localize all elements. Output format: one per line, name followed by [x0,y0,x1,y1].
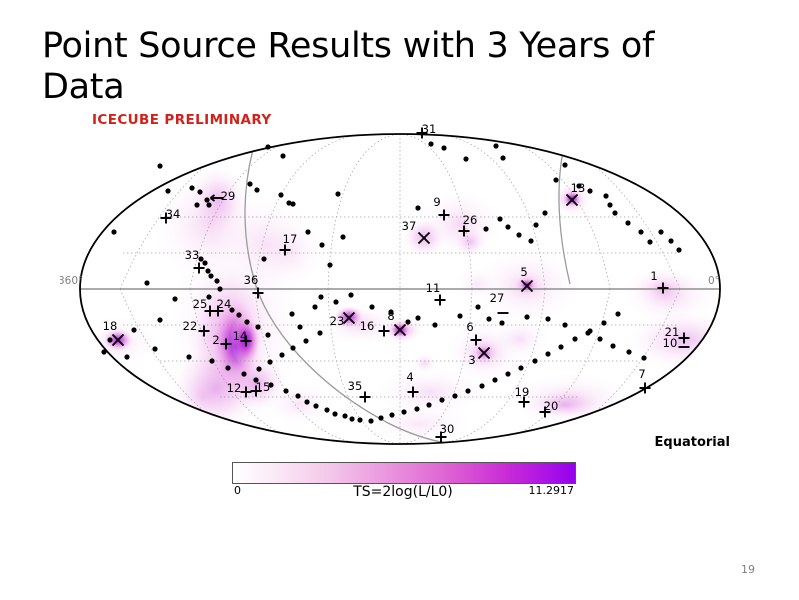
neutrino-event [516,232,521,237]
source-label: 5 [520,265,527,279]
source-label: 23 [330,314,345,328]
neutrino-event [524,314,529,319]
neutrino-event [255,324,260,329]
neutrino-event [244,319,249,324]
source-label: 16 [360,319,375,333]
neutrino-event [486,316,491,321]
neutrino-event [638,229,643,234]
neutrino-event [492,377,497,382]
neutrino-event [280,153,285,158]
neutrino-event [278,192,283,197]
neutrino-event [204,197,209,202]
neutrino-event [333,299,338,304]
neutrino-event [101,349,106,354]
neutrino-event [289,311,294,316]
neutrino-event [615,311,620,316]
source-label: 34 [166,207,181,221]
neutrino-event [493,143,498,148]
source-label: 13 [571,181,586,195]
page-title: Point Source Results with 3 Years of Dat… [42,26,732,107]
neutrino-event [597,336,602,341]
neutrino-event [607,202,612,207]
source-label: 8 [387,309,394,323]
source-label: 12 [227,381,242,395]
neutrino-event [465,388,470,393]
neutrino-event [265,332,270,337]
neutrino-event [254,187,259,192]
neutrino-event [225,365,230,370]
neutrino-event [603,193,608,198]
neutrino-event [236,312,241,317]
neutrino-event [532,358,537,363]
neutrino-event [414,406,419,411]
skymap: 1234567891011121314151617181920212223242… [60,124,740,454]
neutrino-event [500,155,505,160]
neutrino-event [206,202,211,207]
source-label: 33 [185,248,200,262]
source-label: 14 [233,329,248,343]
neutrino-event [297,324,302,329]
slide-root: Point Source Results with 3 Years of Dat… [0,0,799,600]
neutrino-event [587,188,592,193]
neutrino-event [197,189,202,194]
source-label: 25 [193,297,208,311]
neutrino-event [340,234,345,239]
projection-label: Equatorial [655,435,730,450]
source-label: 26 [463,213,478,227]
source-label: 37 [402,219,417,233]
neutrino-event [505,224,510,229]
neutrino-event [194,202,199,207]
neutrino-event [676,247,681,252]
source-label: 6 [466,320,473,334]
neutrino-event [528,238,533,243]
neutrino-event [401,409,406,414]
ra-left-label: 360° [60,275,83,287]
neutrino-event [290,345,295,350]
neutrino-event [505,371,510,376]
neutrino-event [405,319,410,324]
neutrino-event [186,354,191,359]
neutrino-event [572,336,577,341]
neutrino-event [658,229,663,234]
neutrino-event [214,278,219,283]
neutrino-event [303,338,308,343]
page-number: 19 [741,563,755,576]
neutrino-event [152,346,157,351]
neutrino-event [533,222,538,227]
neutrino-event [165,188,170,193]
source-label: 36 [244,273,259,287]
neutrino-event [279,352,284,357]
neutrino-event [426,402,431,407]
neutrino-event [111,229,116,234]
neutrino-event [562,322,567,327]
neutrino-event [144,280,149,285]
neutrino-event [318,294,323,299]
neutrino-event [283,388,288,393]
neutrino-event [479,383,484,388]
neutrino-event [157,317,162,322]
neutrino-event [327,262,332,267]
source-label: 2 [212,333,219,347]
neutrino-event [317,330,322,335]
neutrino-event [463,156,468,161]
source-label: 4 [406,370,413,384]
neutrino-event [324,407,329,412]
skymap-svg: 1234567891011121314151617181920212223242… [60,124,740,454]
neutrino-event [335,191,340,196]
neutrino-event [542,210,547,215]
source-label: 30 [440,422,455,436]
neutrino-event [612,210,617,215]
neutrino-event [439,397,444,402]
neutrino-event [295,393,300,398]
source-label: 24 [217,297,232,311]
source-label: 9 [433,195,440,209]
neutrino-event [304,399,309,404]
neutrino-event [545,316,550,321]
neutrino-event [319,242,324,247]
ra-right-label: 0° [708,275,720,287]
neutrino-event [124,354,129,359]
neutrino-event [626,349,631,354]
source-label: 3 [468,353,475,367]
neutrino-event [208,273,213,278]
neutrino-event [432,322,437,327]
neutrino-event [247,181,252,186]
neutrino-event [357,417,362,422]
neutrino-event [641,355,646,360]
source-label: 20 [544,399,559,413]
neutrino-event [348,292,353,297]
neutrino-event [625,220,630,225]
neutrino-event [647,239,652,244]
source-label: 1 [650,269,657,283]
neutrino-event [457,313,462,318]
neutrino-event [483,226,488,231]
source-label: 17 [283,232,298,246]
neutrino-event [428,141,433,146]
colorbar-title: TS=2log(L/L0) [232,484,574,500]
neutrino-event [332,411,337,416]
neutrino-event [601,320,606,325]
neutrino-event [209,358,214,363]
colorbar-max-label: 11.2917 [529,484,575,497]
neutrino-event [205,268,210,273]
neutrino-event [475,304,480,309]
neutrino-event [312,304,317,309]
neutrino-event [157,163,162,168]
neutrino-event [189,185,194,190]
neutrino-event [415,315,420,320]
neutrino-event [256,366,261,371]
neutrino-event [610,343,615,348]
colorbar: 0 TS=2log(L/L0) 11.2917 [232,462,574,506]
neutrino-event [131,327,136,332]
neutrino-event [265,144,270,149]
source-label: 21 [665,325,680,339]
neutrino-event [241,371,246,376]
neutrino-event [349,416,354,421]
source-label: 18 [103,319,118,333]
neutrino-event [107,337,112,342]
neutrino-event [369,304,374,309]
neutrino-event [668,238,673,243]
neutrino-event [290,201,295,206]
source-label: 35 [348,379,363,393]
neutrino-event [562,162,567,167]
neutrino-event [497,216,502,221]
neutrino-event [415,205,420,210]
neutrino-event [499,320,504,325]
neutrino-event [389,412,394,417]
source-label: 27 [490,291,505,305]
neutrino-event [217,286,222,291]
source-label: 29 [221,189,236,203]
neutrino-event [545,351,550,356]
neutrino-event [558,344,563,349]
source-label: 22 [183,319,198,333]
neutrino-event [518,365,523,370]
neutrino-event [553,177,558,182]
source-label: 15 [256,380,271,394]
neutrino-event [172,296,177,301]
source-label: 11 [426,281,441,295]
source-label: 7 [638,367,645,381]
neutrino-event [452,393,457,398]
neutrino-event [261,256,266,261]
neutrino-event [342,413,347,418]
neutrino-event [378,415,383,420]
neutrino-event [368,418,373,423]
neutrino-event [441,145,446,150]
source-label: 19 [515,385,530,399]
neutrino-event [587,328,592,333]
neutrino-event [202,260,207,265]
neutrino-event [313,403,318,408]
neutrino-event [267,359,272,364]
colorbar-gradient [232,462,576,484]
source-label: 31 [422,124,437,136]
neutrino-event [305,229,310,234]
